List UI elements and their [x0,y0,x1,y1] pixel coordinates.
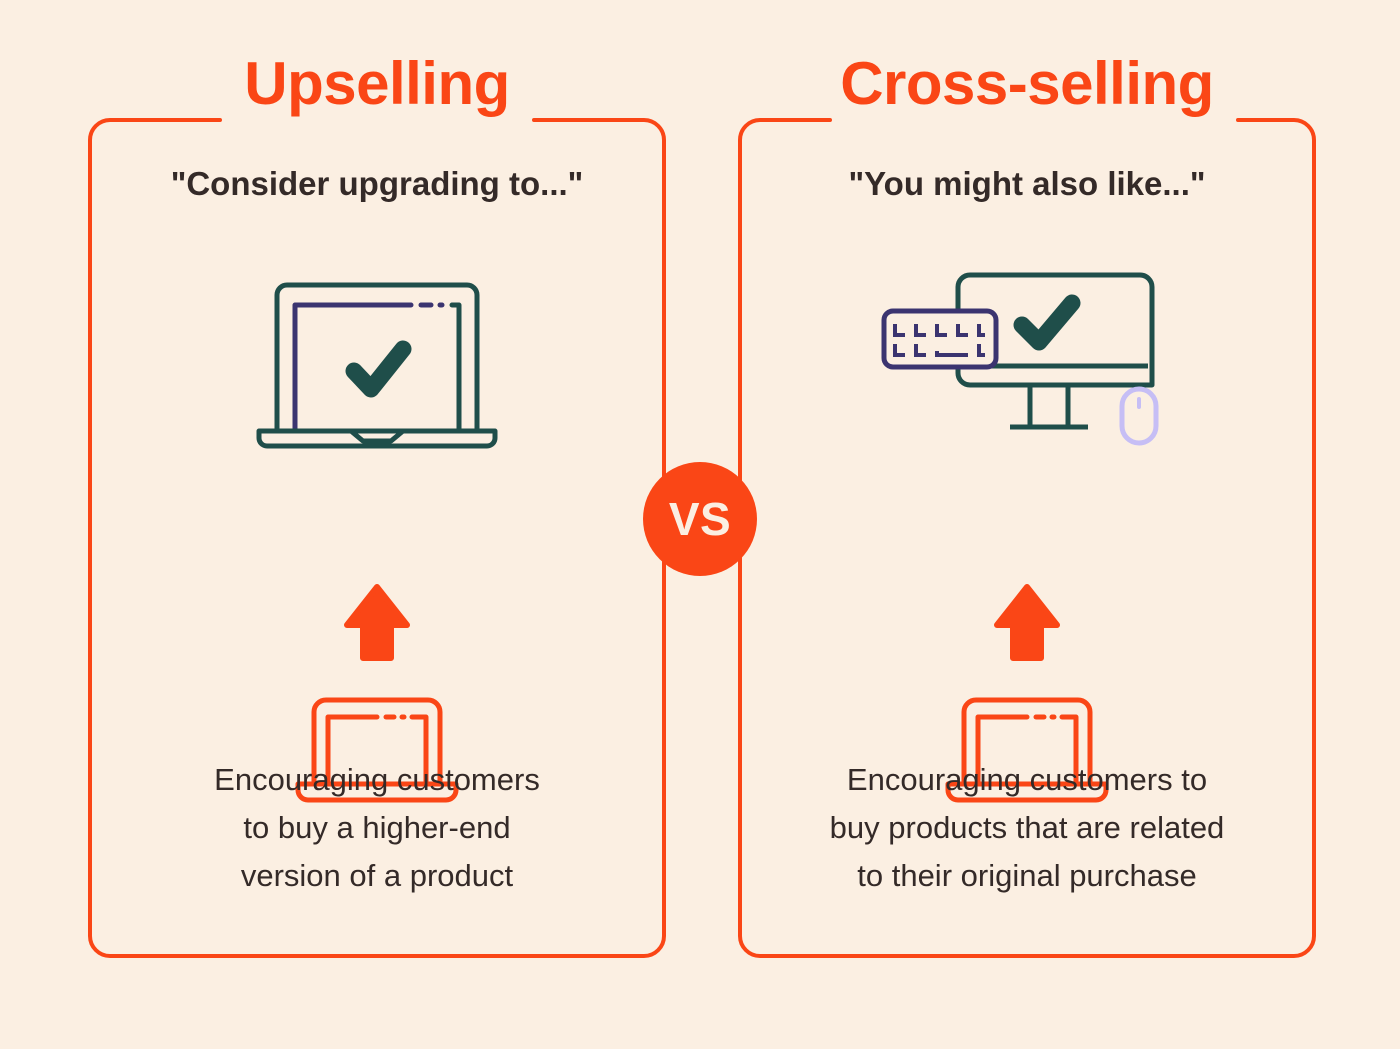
panel-subtitle-cross-selling: "You might also like..." [738,166,1316,202]
panel-subtitle-upselling: "Consider upgrading to..." [88,166,666,202]
up-arrow-icon [993,584,1061,667]
infographic-canvas: Upselling "Consider upgrading to..." [0,0,1400,1049]
icon-slot-top-upselling [88,274,666,454]
panel-upselling: Upselling "Consider upgrading to..." [88,118,666,958]
panel-cross-selling: Cross-selling "You might also like..." [738,118,1316,958]
panel-description-cross-selling: Encouraging customers to buy products th… [738,756,1316,900]
icon-slot-arrow-cross-selling [738,584,1316,667]
icon-slot-top-cross-selling [738,274,1316,454]
monitor-keyboard-mouse-with-checkmark-icon [882,273,1172,454]
icon-slot-arrow-upselling [88,584,666,667]
panel-title-cross-selling: Cross-selling [738,54,1316,114]
vs-badge: VS [643,462,757,576]
panel-title-upselling: Upselling [88,54,666,114]
up-arrow-icon [343,584,411,667]
panel-description-upselling: Encouraging customers to buy a higher-en… [88,756,666,900]
laptop-with-checkmark-icon [251,283,503,454]
